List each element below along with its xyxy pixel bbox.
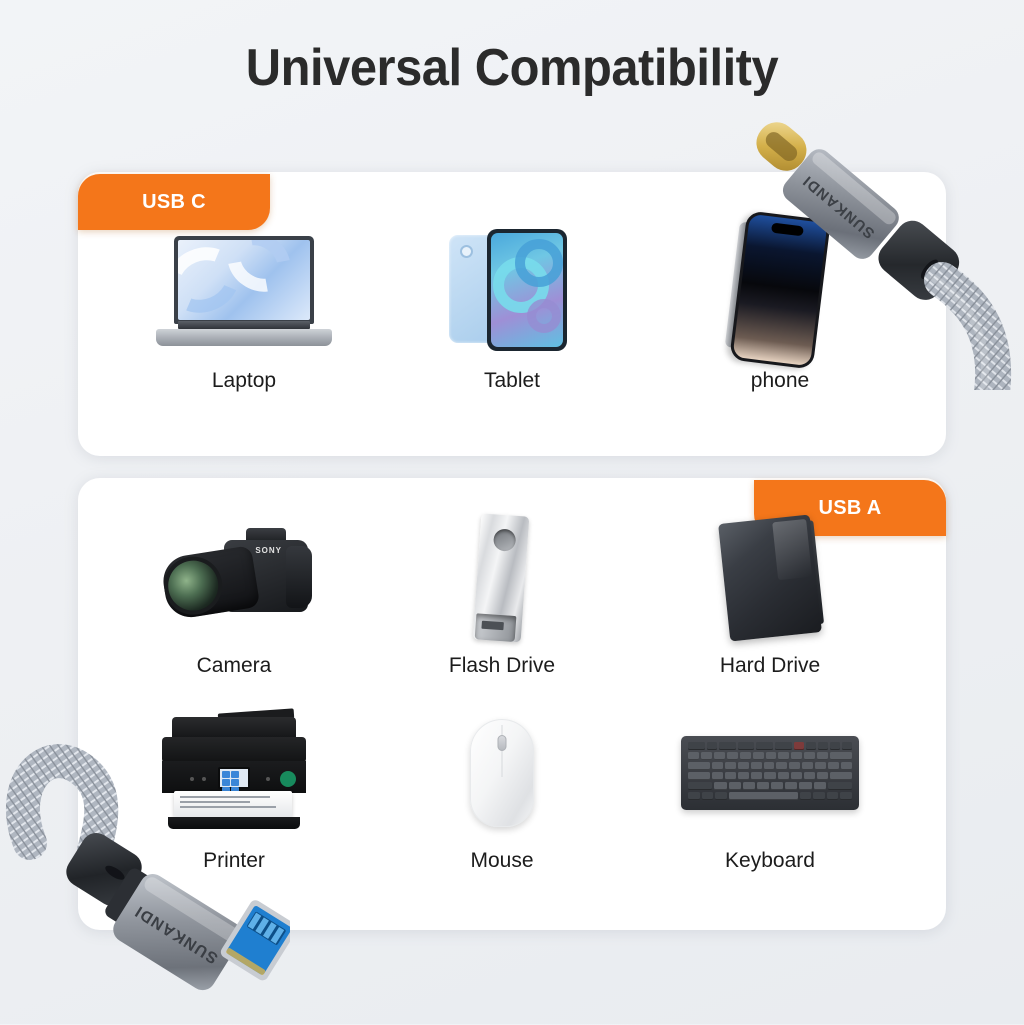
phone-icon [728, 225, 832, 355]
tablet-icon [447, 225, 577, 355]
device-label: phone [751, 369, 809, 393]
flash-drive-icon [469, 515, 535, 640]
mouse-icon [470, 710, 534, 835]
hard-drive-icon [724, 515, 816, 640]
device-label: Laptop [212, 369, 276, 393]
camera-icon: SONY [156, 515, 312, 640]
device-label: Mouse [470, 849, 533, 873]
page-title: Universal Compatibility [31, 38, 994, 98]
usb-a-device-grid: SONY Camera Flash Drive Hard Drive [100, 515, 904, 905]
device-label: Keyboard [725, 849, 815, 873]
device-keyboard[interactable]: Keyboard [636, 710, 904, 905]
device-tablet[interactable]: Tablet [378, 225, 646, 393]
printer-icon [158, 710, 310, 835]
device-camera[interactable]: SONY Camera [100, 515, 368, 710]
device-label: Tablet [484, 369, 540, 393]
keyboard-icon [681, 710, 859, 835]
device-mouse[interactable]: Mouse [368, 710, 636, 905]
device-label: Camera [197, 654, 272, 678]
device-label: Flash Drive [449, 654, 555, 678]
device-label: Hard Drive [720, 654, 820, 678]
laptop-icon [156, 225, 332, 355]
device-laptop[interactable]: Laptop [110, 225, 378, 393]
usb-c-badge: USB C [78, 174, 270, 230]
device-label: Printer [203, 849, 265, 873]
device-printer[interactable]: Printer [100, 710, 368, 905]
device-flash-drive[interactable]: Flash Drive [368, 515, 636, 710]
device-hard-drive[interactable]: Hard Drive [636, 515, 904, 710]
device-phone[interactable]: phone [646, 225, 914, 393]
usb-c-device-grid: Laptop Tablet phone [110, 225, 914, 393]
